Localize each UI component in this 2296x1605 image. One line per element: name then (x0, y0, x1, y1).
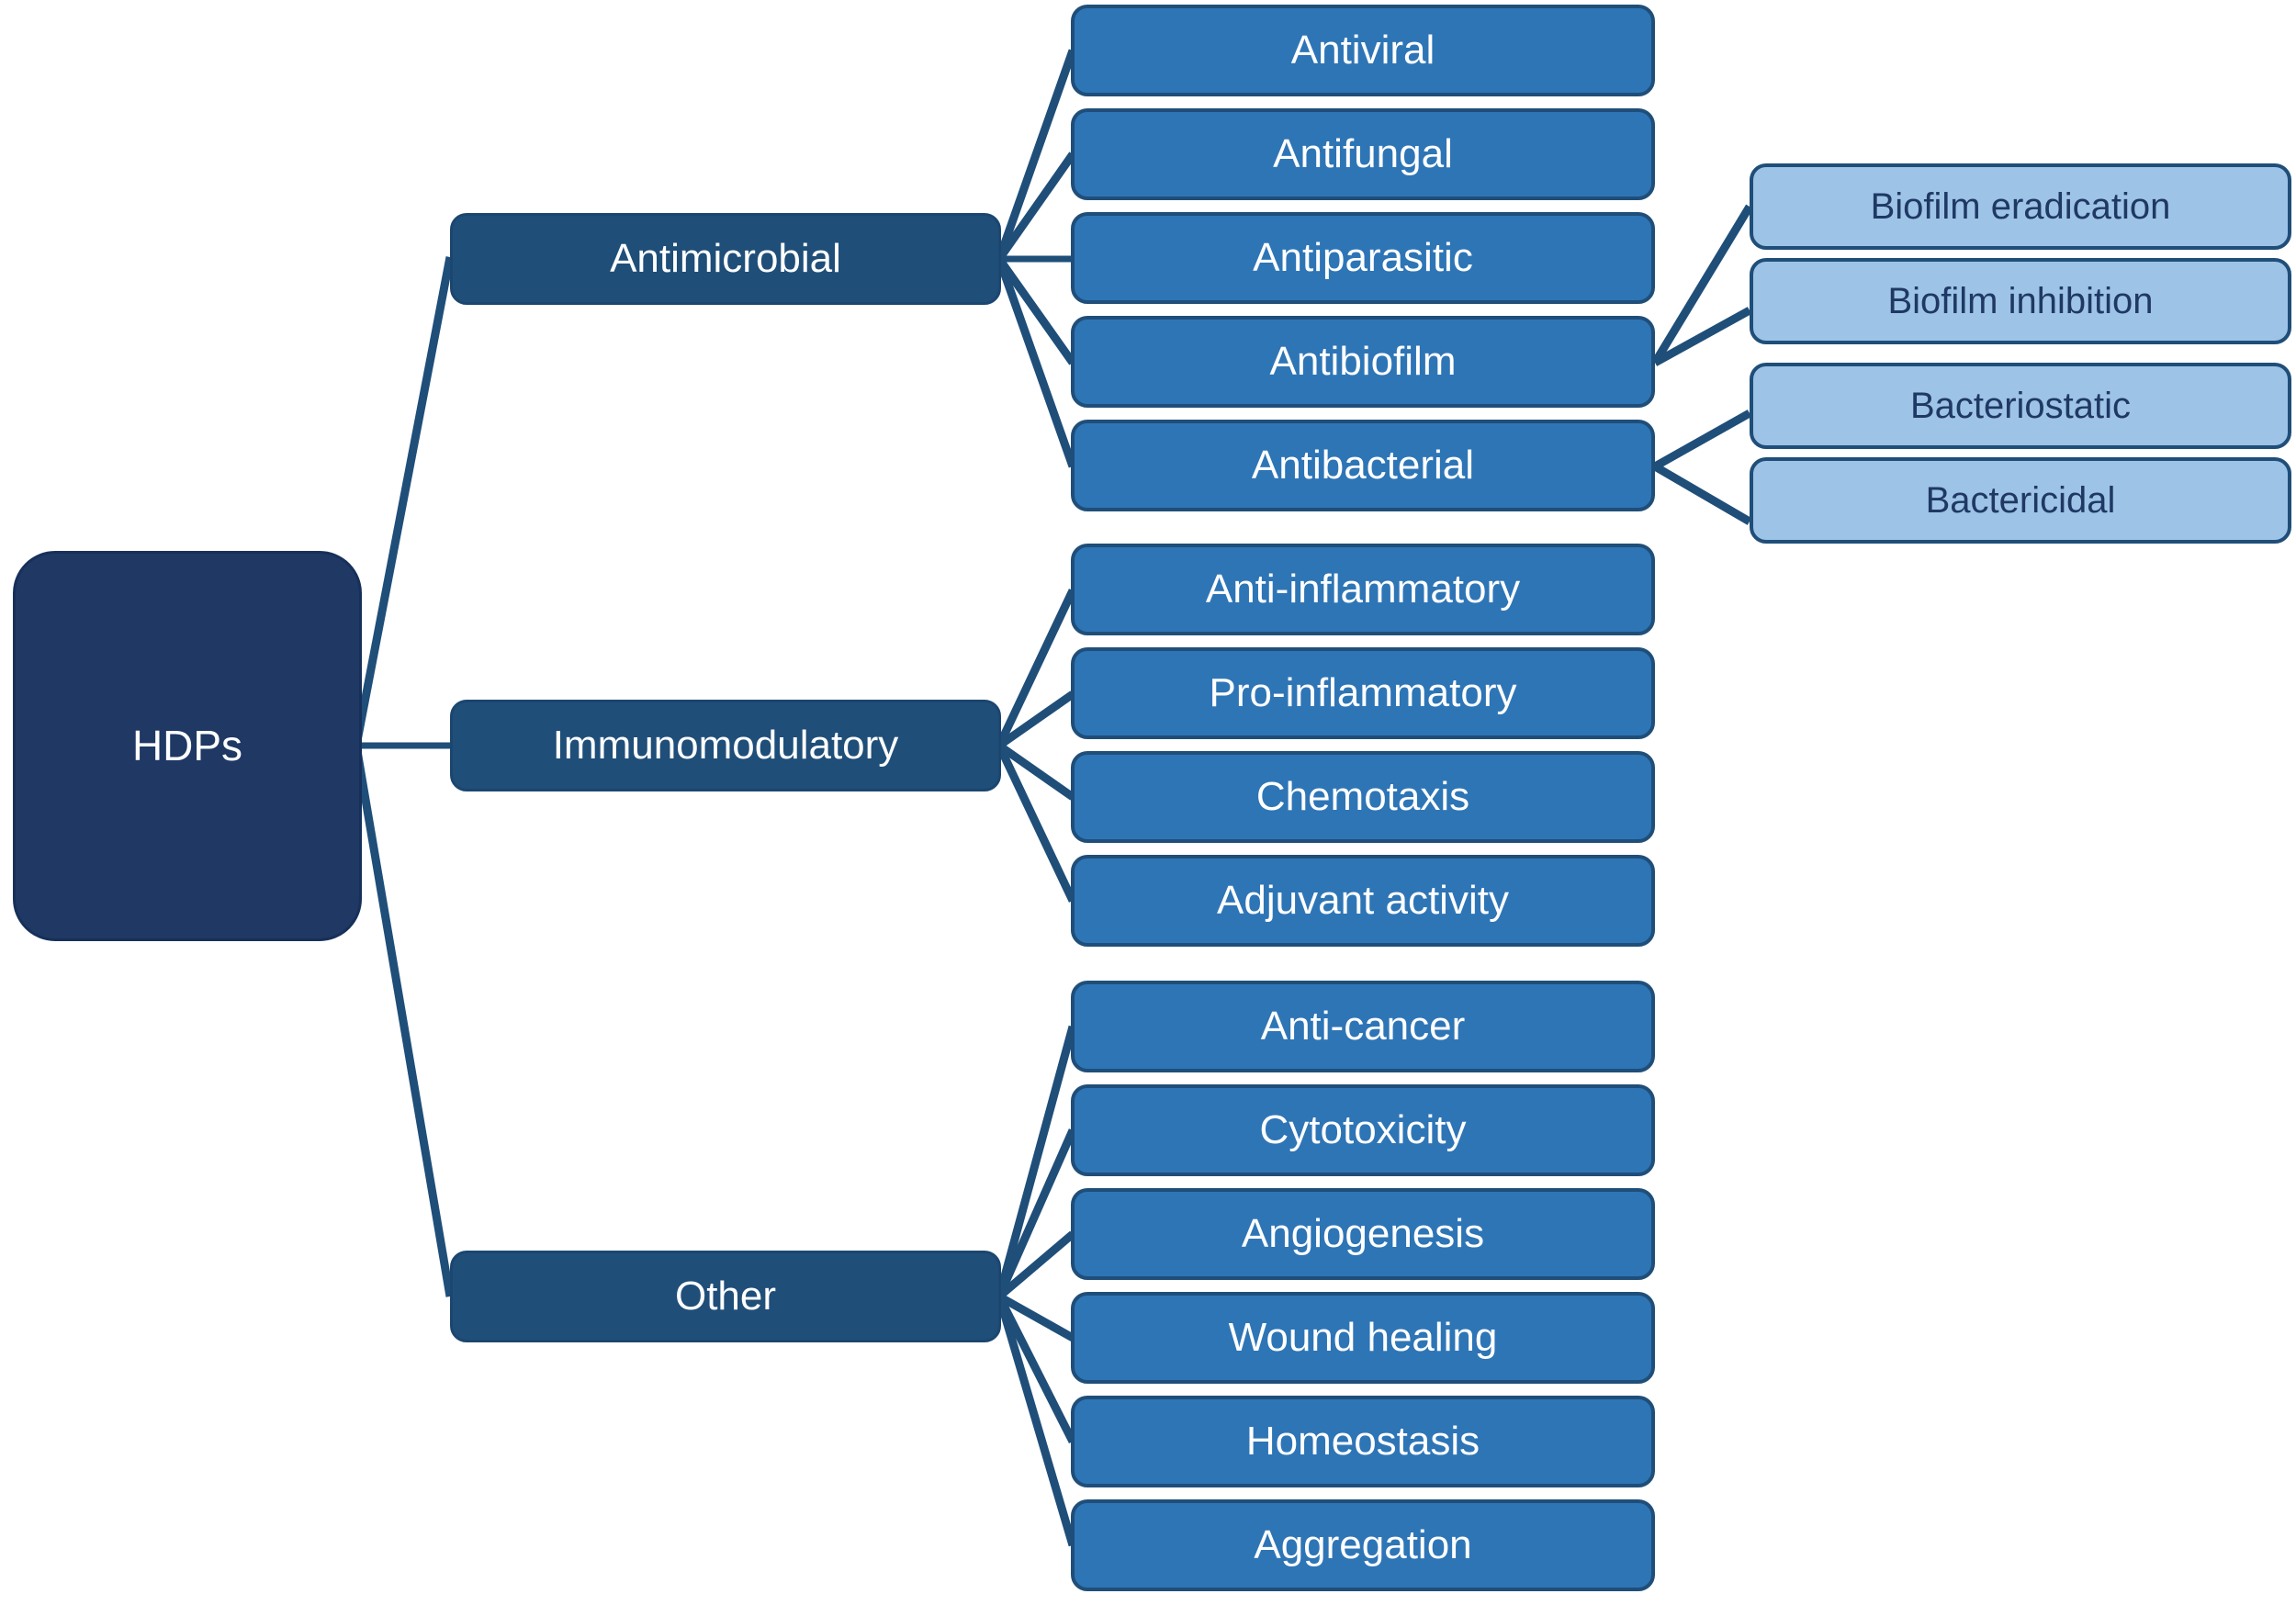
node-label: Angiogenesis (1242, 1212, 1484, 1256)
node-immunomodulatory[interactable]: Immunomodulatory (450, 700, 1001, 791)
node-label: Biofilm inhibition (1887, 281, 2153, 321)
node-label: Antifungal (1273, 132, 1453, 176)
node-label: Homeostasis (1246, 1420, 1480, 1464)
node-antibiofilm[interactable]: Antibiofilm (1071, 316, 1655, 408)
node-anti-cancer[interactable]: Anti-cancer (1071, 981, 1655, 1072)
node-antifungal[interactable]: Antifungal (1071, 108, 1655, 200)
node-antiparasitic[interactable]: Antiparasitic (1071, 212, 1655, 304)
node-label: Aggregation (1254, 1523, 1471, 1567)
node-angiogenesis[interactable]: Angiogenesis (1071, 1188, 1655, 1280)
node-chemotaxis[interactable]: Chemotaxis (1071, 751, 1655, 843)
node-label: Cytotoxicity (1260, 1108, 1467, 1152)
node-label: Bacteriostatic (1910, 386, 2131, 426)
node-other[interactable]: Other (450, 1251, 1001, 1342)
node-label: Adjuvant activity (1217, 879, 1509, 923)
node-label: Anti-inflammatory (1206, 567, 1520, 612)
node-label: Antiparasitic (1253, 236, 1473, 280)
node-wound-healing[interactable]: Wound healing (1071, 1292, 1655, 1384)
node-biofilm-inhibition[interactable]: Biofilm inhibition (1750, 258, 2291, 344)
node-bacteriostatic[interactable]: Bacteriostatic (1750, 363, 2291, 449)
node-antibacterial[interactable]: Antibacterial (1071, 420, 1655, 511)
node-label: Immunomodulatory (553, 724, 899, 768)
node-anti-inflammatory[interactable]: Anti-inflammatory (1071, 544, 1655, 635)
node-label: Wound healing (1229, 1316, 1498, 1360)
node-label: Antibacterial (1252, 443, 1474, 488)
node-label: Other (675, 1274, 776, 1319)
node-adjuvant-activity[interactable]: Adjuvant activity (1071, 855, 1655, 947)
node-label: Biofilm eradication (1871, 186, 2171, 227)
node-label: HDPs (132, 723, 242, 769)
node-hdps[interactable]: HDPs (13, 551, 362, 941)
node-label: Antimicrobial (610, 237, 841, 281)
node-pro-inflammatory[interactable]: Pro-inflammatory (1071, 647, 1655, 739)
diagram-canvas: HDPs Antimicrobial Immunomodulatory Othe… (0, 0, 2296, 1605)
node-aggregation[interactable]: Aggregation (1071, 1499, 1655, 1591)
node-label: Antiviral (1291, 28, 1435, 73)
node-biofilm-eradication[interactable]: Biofilm eradication (1750, 163, 2291, 250)
node-label: Anti-cancer (1261, 1005, 1466, 1049)
node-label: Chemotaxis (1256, 775, 1469, 819)
node-antiviral[interactable]: Antiviral (1071, 5, 1655, 96)
node-bactericidal[interactable]: Bactericidal (1750, 457, 2291, 544)
node-homeostasis[interactable]: Homeostasis (1071, 1396, 1655, 1487)
node-cytotoxicity[interactable]: Cytotoxicity (1071, 1084, 1655, 1176)
node-label: Antibiofilm (1270, 340, 1457, 384)
node-antimicrobial[interactable]: Antimicrobial (450, 213, 1001, 305)
node-label: Bactericidal (1926, 480, 2116, 521)
node-label: Pro-inflammatory (1210, 671, 1517, 715)
